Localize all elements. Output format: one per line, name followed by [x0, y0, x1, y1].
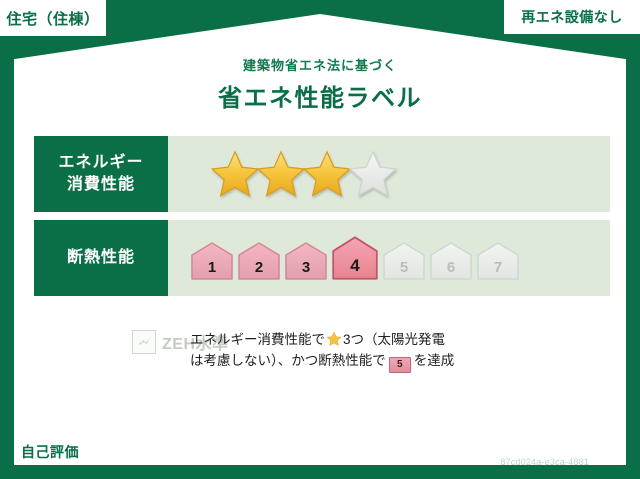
insulation-level-badge-5: 5 [382, 241, 426, 281]
energy-performance-label: 住宅（住棟） 再エネ設備なし 建築物省エネ法に基づく 省エネ性能ラベル エネルギ… [0, 0, 640, 479]
rating-rows: エネルギー 消費性能 断熱性能 1234567 [34, 136, 610, 304]
star-filled-icon [256, 149, 306, 199]
zeh-desc-line1-pre: エネルギー消費性能で [190, 332, 325, 347]
title-block: 建築物省エネ法に基づく 省エネ性能ラベル [0, 55, 640, 113]
zeh-desc-line2-pre: は考慮しない）、かつ断熱性能で [190, 353, 386, 368]
insulation-level-number: 4 [350, 256, 359, 276]
footer: 自己評価 東京都江東区三好3丁目 評価日 2025年12月25日 87cd024… [0, 423, 640, 479]
star-rating [168, 149, 394, 199]
insulation-level-number: 5 [400, 259, 408, 276]
insulation-level-number: 1 [208, 259, 216, 276]
zeh-desc-line2-post: を達成 [414, 353, 455, 368]
zeh-desc-line1: エネルギー消費性能で3つ（太陽光発電 [190, 330, 454, 351]
address-text: 東京都江東区三好3丁目 [94, 443, 231, 462]
insulation-level-badge-6: 6 [429, 241, 473, 281]
insulation-label-line1: 断熱性能 [67, 247, 135, 269]
zeh-description: エネルギー消費性能で3つ（太陽光発電 は考慮しない）、かつ断熱性能で5を達成 [184, 330, 454, 373]
insulation-row: 断熱性能 1234567 [34, 220, 610, 296]
insulation-label: 断熱性能 [34, 220, 168, 296]
evaluation-date: 評価日 2025年12月25日 [467, 434, 622, 454]
zeh-checkbox-icon [132, 330, 156, 354]
insulation-value: 1234567 [168, 220, 610, 296]
title-main: 省エネ性能ラベル [0, 78, 640, 113]
footer-right: 評価日 2025年12月25日 87cd024a-e3ca-4881 [467, 434, 622, 467]
insulation-level-badge-2: 2 [237, 241, 281, 281]
insulation-level-number: 7 [494, 259, 502, 276]
insulation-level-badge-1: 1 [190, 241, 234, 281]
zeh-section: ZEH水準 エネルギー消費性能で3つ（太陽光発電 は考慮しない）、かつ断熱性能で… [34, 330, 610, 373]
insulation-level-number: 3 [302, 259, 310, 276]
zeh-desc-line1-post: 3つ（太陽光発電 [343, 332, 445, 347]
energy-consumption-value [168, 136, 610, 212]
energy-label-line1: エネルギー [58, 152, 143, 174]
insulation-level-badge-7: 7 [476, 241, 520, 281]
insulation-level-number: 6 [447, 259, 455, 276]
evaluation-id: 87cd024a-e3ca-4881 [467, 457, 622, 467]
insulation-level-scale: 1234567 [168, 235, 520, 281]
zeh-mark: ZEH水準 [34, 330, 184, 354]
energy-label-line2: 消費性能 [67, 174, 135, 196]
building-type-tag: 住宅（住棟） [0, 0, 106, 36]
star-filled-icon [210, 149, 260, 199]
insulation-level-badge-3: 3 [284, 241, 328, 281]
star-filled-icon [302, 149, 352, 199]
inline-level-badge: 5 [389, 357, 411, 373]
insulation-level-number: 2 [255, 259, 263, 276]
energy-consumption-label: エネルギー 消費性能 [34, 136, 168, 212]
self-evaluation-badge: 自己評価 [14, 439, 86, 465]
title-subtitle: 建築物省エネ法に基づく [0, 55, 640, 74]
inline-star-icon [326, 331, 342, 347]
energy-consumption-row: エネルギー 消費性能 [34, 136, 610, 212]
footer-left: 自己評価 東京都江東区三好3丁目 [14, 439, 231, 465]
renewable-equipment-tag: 再エネ設備なし [504, 0, 640, 34]
star-empty-icon [348, 149, 398, 199]
insulation-level-badge-4: 4 [331, 235, 379, 281]
zeh-desc-line2: は考慮しない）、かつ断熱性能で5を達成 [190, 351, 454, 373]
